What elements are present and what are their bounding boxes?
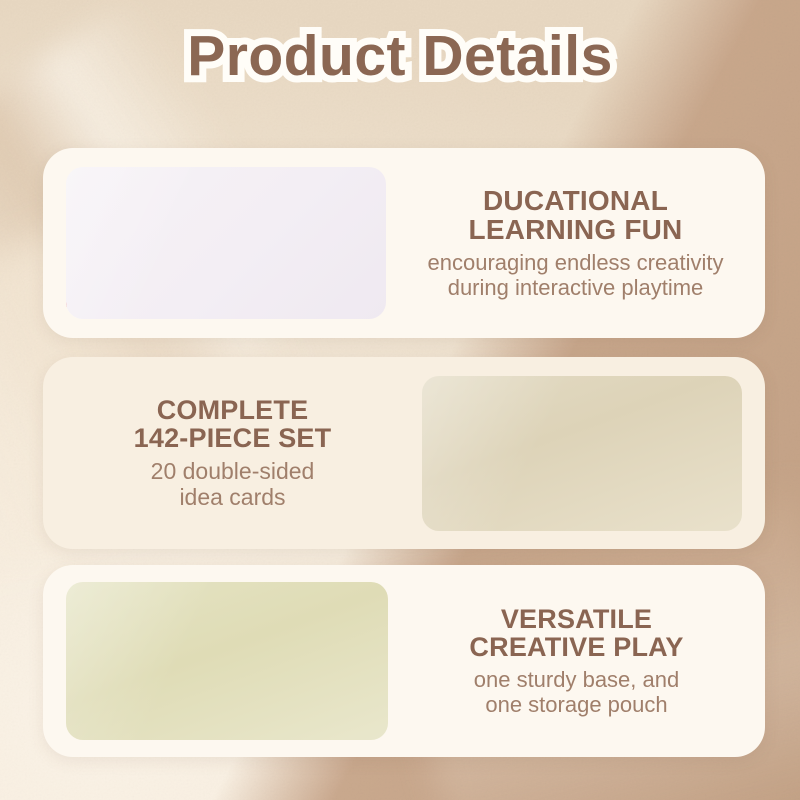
versatile-play-copy: VERSATILE CREATIVE PLAY one sturdy base,… [388,605,765,717]
card1-heading-line2: LEARNING FUN [469,215,683,245]
card2-heading-line2: 142-PIECE SET [134,424,332,453]
card3-sub-line2: one storage pouch [474,692,679,717]
page-title-wrap: Product Details [0,28,800,85]
feature-card-educational: DUCATIONAL LEARNING FUN encouraging endl… [43,148,765,338]
feature-card-complete-set: COMPLETE 142-PIECE SET 20 double-sided i… [43,357,765,549]
castle-build-photo [66,167,386,319]
card2-heading-line1: COMPLETE [134,396,332,425]
card1-sub-line2: during interactive playtime [428,275,724,300]
card1-heading-line1: DUCATIONAL [469,186,683,216]
card3-sub-line1: one sturdy base, and [474,667,679,692]
card3-heading-line1: VERSATILE [469,605,683,634]
card2-sub-line2: idea cards [151,484,315,510]
card3-heading-line2: CREATIVE PLAY [469,633,683,662]
page-title: Product Details [187,28,613,85]
card1-sub-line1: encouraging endless creativity [428,250,724,275]
infographic-canvas: Product Details [0,0,800,800]
feature-card-versatile-play: VERSATILE CREATIVE PLAY one sturdy base,… [43,565,765,757]
educational-copy: DUCATIONAL LEARNING FUN encouraging endl… [386,186,765,301]
card2-sub-line1: 20 double-sided [151,458,315,484]
idea-cards-photo: Difficulty [422,376,742,531]
wooden-base-photo [66,582,388,740]
complete-set-copy: COMPLETE 142-PIECE SET 20 double-sided i… [43,396,422,511]
